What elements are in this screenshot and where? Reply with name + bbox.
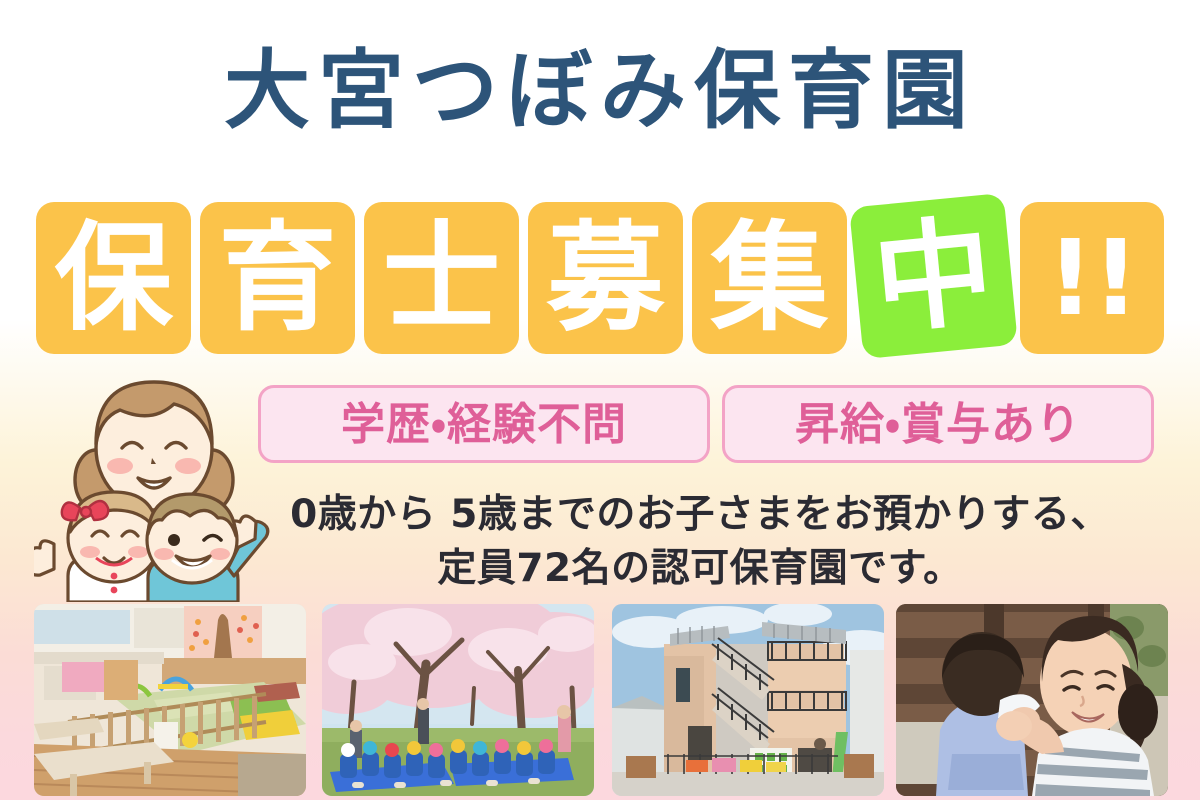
classroom-photo: [34, 604, 306, 796]
description-line-1: 0歳から 5歳までのお子さまをお預かりする、: [230, 488, 1170, 542]
photo-strip: [34, 604, 1168, 796]
headline-tile-2: 育: [200, 202, 355, 354]
headline-tile-3: 士: [364, 202, 519, 354]
headline-tile-6-highlight: 中: [849, 193, 1018, 359]
page-title: 大宮つぼみ保育園: [0, 48, 1200, 134]
description-text: 0歳から 5歳までのお子さまをお預かりする、 定員72名の認可保育園です。: [230, 488, 1170, 596]
headline-tile-4: 募: [528, 202, 683, 354]
headline-tile-1: 保: [36, 202, 191, 354]
headline-tile-7-exclamation: !!: [1020, 202, 1164, 354]
caregiver-with-child-photo: [896, 604, 1168, 796]
building-exterior-photo: [612, 604, 884, 796]
badge-raise-and-bonus: 昇給・賞与あり: [722, 385, 1154, 463]
headline-tiles: 保 育 士 募 集 中 !!: [36, 200, 1164, 358]
badge-no-education-experience-required: 学歴・経験不問: [258, 385, 710, 463]
cherry-blossom-outing-photo: [322, 604, 594, 796]
recruitment-banner: 大宮つぼみ保育園 保 育 士 募 集 中 !! 学歴・経験不問 昇給・賞与あり …: [0, 0, 1200, 800]
teacher-children-illustration: [34, 362, 270, 602]
description-line-2: 定員72名の認可保育園です。: [230, 542, 1170, 596]
headline-tile-5: 集: [692, 202, 847, 354]
